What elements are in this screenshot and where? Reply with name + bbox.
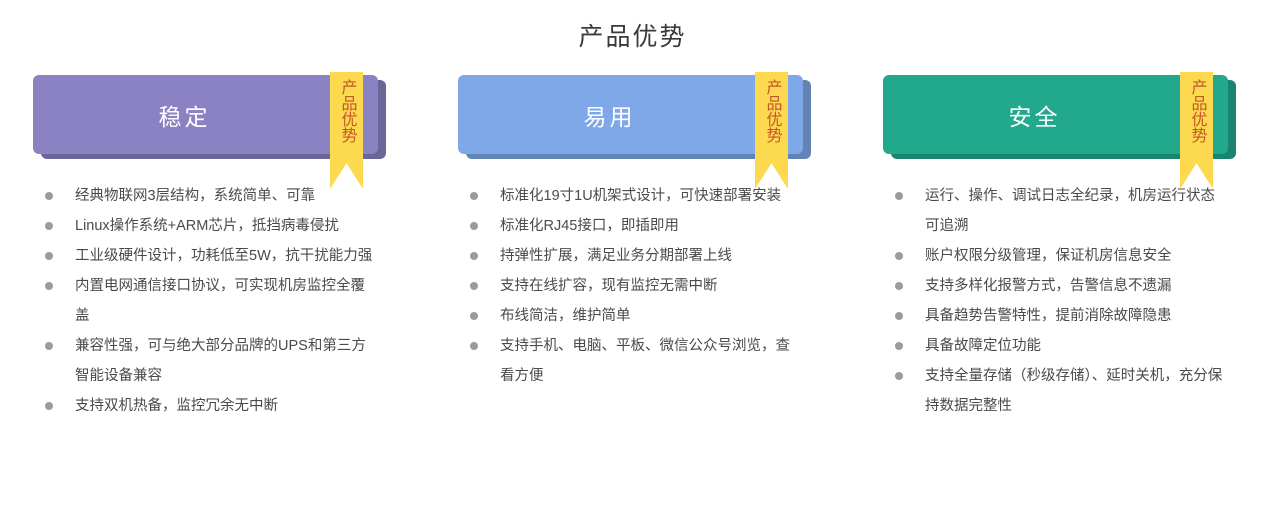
product-advantage-cards: 稳定 产品优势 经典物联网3层结构，系统简单、可靠 Linux操作系统+ARM芯…: [0, 75, 1265, 421]
list-item-label: 标准化RJ45接口，即插即用: [500, 218, 679, 234]
list-item-label: 支持手机、电脑、平板、微信公众号浏览，查看方便: [500, 338, 790, 384]
bullet-icon: [45, 342, 53, 350]
list-item-label: Linux操作系统+ARM芯片，抵挡病毒侵扰: [75, 218, 339, 234]
list-item: 标准化RJ45接口，即插即用: [470, 211, 803, 241]
list-item: 支持在线扩容，现有监控无需中断: [470, 271, 803, 301]
card-header-wrap: 易用 产品优势: [458, 75, 803, 159]
ribbon-label: 产品优势: [763, 79, 781, 143]
list-item: 账户权限分级管理，保证机房信息安全: [895, 241, 1228, 271]
list-item: 内置电网通信接口协议，可实现机房监控全覆盖: [45, 271, 378, 331]
list-item: 支持双机热备，监控冗余无中断: [45, 391, 378, 421]
list-item-label: 经典物联网3层结构，系统简单、可靠: [75, 188, 315, 204]
list-item-label: 账户权限分级管理，保证机房信息安全: [925, 248, 1172, 264]
bullet-icon: [45, 282, 53, 290]
list-item-label: 布线简洁，维护简单: [500, 308, 631, 324]
page-title: 产品优势: [0, 0, 1265, 50]
ribbon-label: 产品优势: [338, 79, 356, 143]
card-header: 稳定: [33, 75, 378, 154]
bullet-icon: [895, 312, 903, 320]
bullet-icon: [895, 282, 903, 290]
list-item: 兼容性强，可与绝大部分品牌的UPS和第三方智能设备兼容: [45, 331, 378, 391]
bullet-icon: [895, 252, 903, 260]
list-item: 持弹性扩展，满足业务分期部署上线: [470, 241, 803, 271]
advantage-card-usability: 易用 产品优势 标准化19寸1U机架式设计，可快速部署安装 标准化RJ45接口，…: [458, 75, 803, 421]
list-item: 支持多样化报警方式，告警信息不遗漏: [895, 271, 1228, 301]
bullet-icon: [45, 252, 53, 260]
bullet-icon: [470, 252, 478, 260]
list-item-label: 兼容性强，可与绝大部分品牌的UPS和第三方智能设备兼容: [75, 338, 366, 384]
list-item: 具备故障定位功能: [895, 331, 1228, 361]
bullet-icon: [470, 192, 478, 200]
bullet-icon: [895, 342, 903, 350]
list-item-label: 工业级硬件设计，功耗低至5W，抗干扰能力强: [75, 248, 372, 264]
bullet-icon: [470, 282, 478, 290]
card-header: 易用: [458, 75, 803, 154]
list-item: 经典物联网3层结构，系统简单、可靠: [45, 181, 378, 211]
card-title: 安全: [1009, 98, 1061, 132]
list-item: 标准化19寸1U机架式设计，可快速部署安装: [470, 181, 803, 211]
list-item-label: 支持双机热备，监控冗余无中断: [75, 398, 278, 414]
list-item-label: 支持全量存储（秒级存储）、延时关机，充分保持数据完整性: [925, 368, 1222, 414]
card-header-wrap: 稳定 产品优势: [33, 75, 378, 159]
list-item-label: 具备趋势告警特性，提前消除故障隐患: [925, 308, 1172, 324]
list-item: Linux操作系统+ARM芯片，抵挡病毒侵扰: [45, 211, 378, 241]
bullet-icon: [895, 372, 903, 380]
ribbon-label: 产品优势: [1188, 79, 1206, 143]
bullet-icon: [895, 192, 903, 200]
list-item-label: 内置电网通信接口协议，可实现机房监控全覆盖: [75, 278, 365, 324]
bullet-icon: [45, 192, 53, 200]
card-header: 安全: [883, 75, 1228, 154]
list-item: 运行、操作、调试日志全纪录，机房运行状态可追溯: [895, 181, 1228, 241]
list-item-label: 支持多样化报警方式，告警信息不遗漏: [925, 278, 1172, 294]
list-item-label: 标准化19寸1U机架式设计，可快速部署安装: [500, 188, 781, 204]
feature-list: 经典物联网3层结构，系统简单、可靠 Linux操作系统+ARM芯片，抵挡病毒侵扰…: [33, 159, 378, 421]
list-item: 具备趋势告警特性，提前消除故障隐患: [895, 301, 1228, 331]
card-header-wrap: 安全 产品优势: [883, 75, 1228, 159]
card-title: 稳定: [159, 98, 211, 132]
list-item: 支持全量存储（秒级存储）、延时关机，充分保持数据完整性: [895, 361, 1228, 421]
advantage-card-security: 安全 产品优势 运行、操作、调试日志全纪录，机房运行状态可追溯 账户权限分级管理…: [883, 75, 1228, 421]
list-item-label: 支持在线扩容，现有监控无需中断: [500, 278, 718, 294]
advantage-card-stability: 稳定 产品优势 经典物联网3层结构，系统简单、可靠 Linux操作系统+ARM芯…: [33, 75, 378, 421]
feature-list: 运行、操作、调试日志全纪录，机房运行状态可追溯 账户权限分级管理，保证机房信息安…: [883, 159, 1228, 421]
bullet-icon: [470, 312, 478, 320]
list-item-label: 运行、操作、调试日志全纪录，机房运行状态可追溯: [925, 188, 1215, 234]
card-title: 易用: [584, 98, 636, 132]
bullet-icon: [45, 402, 53, 410]
list-item: 工业级硬件设计，功耗低至5W，抗干扰能力强: [45, 241, 378, 271]
list-item: 布线简洁，维护简单: [470, 301, 803, 331]
bullet-icon: [470, 222, 478, 230]
bullet-icon: [45, 222, 53, 230]
bullet-icon: [470, 342, 478, 350]
list-item-label: 具备故障定位功能: [925, 338, 1041, 354]
list-item: 支持手机、电脑、平板、微信公众号浏览，查看方便: [470, 331, 803, 391]
list-item-label: 持弹性扩展，满足业务分期部署上线: [500, 248, 732, 264]
feature-list: 标准化19寸1U机架式设计，可快速部署安装 标准化RJ45接口，即插即用 持弹性…: [458, 159, 803, 391]
